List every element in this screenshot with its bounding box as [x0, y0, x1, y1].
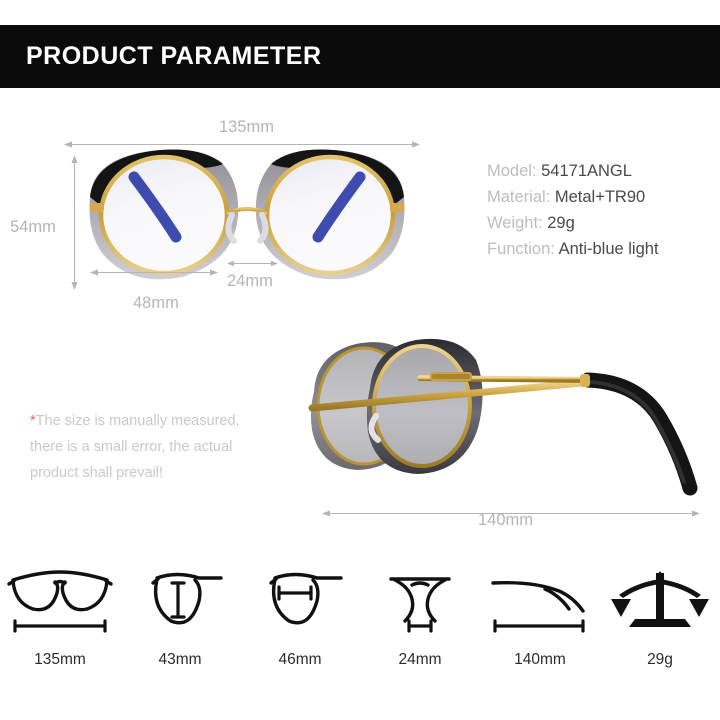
spec-row-weight: Weight: 29g [487, 210, 717, 236]
spec-key-material: Material: [487, 188, 550, 206]
dimension-arrow-lens-width [90, 268, 218, 277]
measurement-label-lens-width: 46mm [278, 651, 321, 669]
note-line-1: *The size is manually measured, [30, 408, 280, 434]
measurement-disclaimer: *The size is manually measured, there is… [30, 408, 280, 486]
spec-key-function: Function: [487, 240, 555, 258]
measurement-cell-bridge-width: 24mm [360, 565, 480, 720]
measurement-strip: 135mm 43mm [0, 565, 720, 720]
dimension-label-lens-width: 48mm [133, 294, 179, 313]
dimension-arrow-total-height [70, 155, 79, 290]
spec-row-model: Model: 54171ANGL [487, 158, 717, 184]
frame-width-icon [5, 565, 115, 637]
measurement-cell-frame-width: 135mm [0, 565, 120, 720]
measurement-label-frame-width: 135mm [34, 651, 86, 669]
temple-length-icon [485, 565, 595, 637]
measurement-cell-lens-height: 43mm [120, 565, 240, 720]
weight-scale-icon [605, 565, 715, 637]
spec-key-weight: Weight: [487, 214, 543, 232]
header-banner: PRODUCT PARAMETER [0, 25, 720, 88]
spec-value-material: Metal+TR90 [555, 188, 645, 206]
dimension-label-temple-length: 140mm [478, 511, 533, 530]
spec-value-function: Anti-blue light [559, 240, 659, 258]
measurement-label-bridge-width: 24mm [398, 651, 441, 669]
dimension-label-total-width: 135mm [219, 118, 274, 137]
dimension-arrow-total-width [64, 140, 420, 149]
bridge-width-icon [365, 565, 475, 637]
side-view-photo [292, 330, 712, 505]
note-text-2: there is a small error, the actual [30, 434, 280, 460]
page-title: PRODUCT PARAMETER [0, 42, 322, 71]
dimension-label-total-height: 54mm [10, 218, 56, 237]
product-parameter-infographic: PRODUCT PARAMETER [0, 0, 720, 720]
measurement-cell-weight: 29g [600, 565, 720, 720]
measurement-cell-temple-length: 140mm [480, 565, 600, 720]
measurement-cell-lens-width: 46mm [240, 565, 360, 720]
spec-list: Model: 54171ANGL Material: Metal+TR90 We… [487, 158, 717, 262]
measurement-label-temple-length: 140mm [514, 651, 566, 669]
spec-key-model: Model: [487, 162, 537, 180]
dimension-label-bridge-width: 24mm [227, 272, 273, 291]
spec-value-model: 54171ANGL [541, 162, 632, 180]
spec-value-weight: 29g [547, 214, 575, 232]
lens-width-icon [245, 565, 355, 637]
spec-row-function: Function: Anti-blue light [487, 236, 717, 262]
measurement-label-lens-height: 43mm [158, 651, 201, 669]
measurement-label-weight: 29g [647, 651, 673, 669]
note-text-3: product shall prevail! [30, 460, 280, 486]
note-text-1: The size is manually measured, [36, 413, 240, 429]
lens-height-icon [125, 565, 235, 637]
spec-row-material: Material: Metal+TR90 [487, 184, 717, 210]
dimension-arrow-bridge-width [227, 259, 278, 268]
